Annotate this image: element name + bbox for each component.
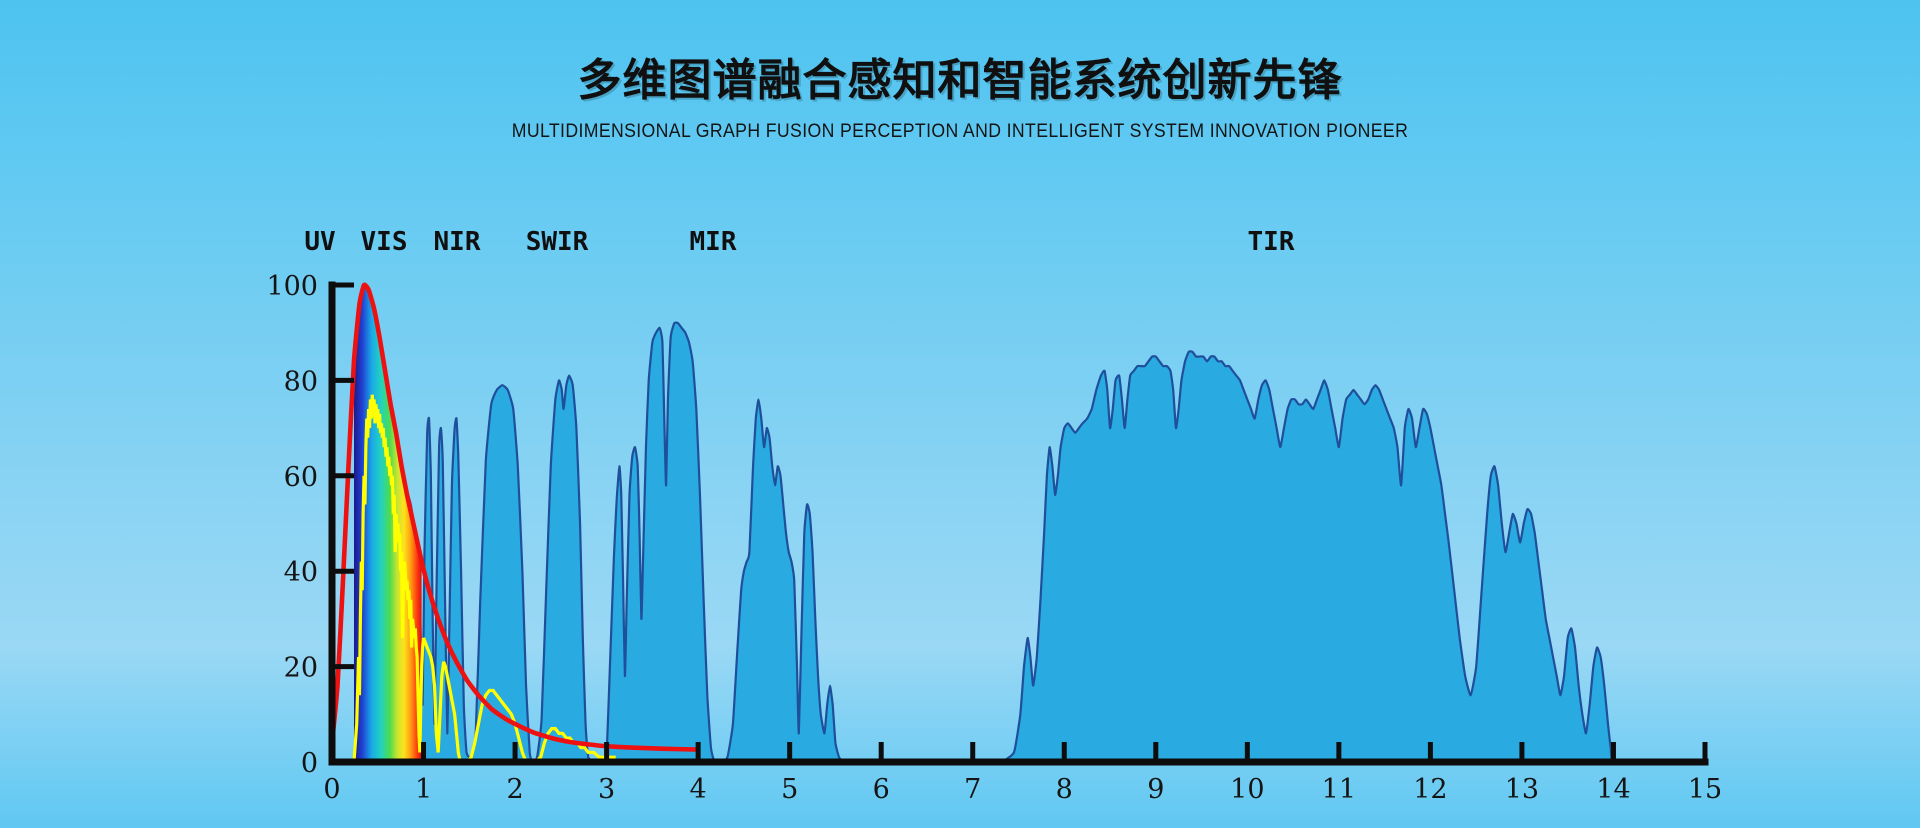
svg-text:20: 20	[284, 653, 318, 684]
svg-text:UV: UV	[304, 227, 335, 257]
svg-text:8: 8	[1056, 774, 1073, 805]
svg-text:60: 60	[284, 462, 318, 493]
svg-text:11: 11	[1322, 774, 1356, 805]
svg-text:6: 6	[873, 774, 890, 805]
svg-text:2: 2	[506, 774, 523, 805]
svg-text:7: 7	[964, 774, 981, 805]
svg-text:TIR: TIR	[1248, 227, 1295, 257]
svg-text:40: 40	[284, 557, 318, 588]
svg-text:80: 80	[284, 366, 318, 397]
svg-text:0: 0	[301, 748, 318, 779]
spectrum-chart: 0123456789101112131415 020406080100 UVVI…	[0, 0, 1920, 828]
svg-text:NIR: NIR	[434, 227, 481, 257]
x-axis-tick-labels: 0123456789101112131415	[323, 774, 1722, 805]
svg-text:MIR: MIR	[690, 227, 737, 257]
svg-text:SWIR: SWIR	[526, 227, 589, 257]
svg-text:13: 13	[1505, 774, 1539, 805]
svg-text:5: 5	[781, 774, 798, 805]
transmission-area	[332, 323, 1705, 763]
svg-text:9: 9	[1147, 774, 1164, 805]
svg-text:VIS: VIS	[361, 227, 408, 257]
svg-text:3: 3	[598, 774, 615, 805]
svg-text:10: 10	[1230, 774, 1264, 805]
spectrum-banner: 多维图谱融合感知和智能系统创新先锋 MULTIDIMENSIONAL GRAPH…	[0, 0, 1920, 828]
svg-text:15: 15	[1688, 774, 1722, 805]
svg-text:100: 100	[266, 271, 318, 302]
svg-text:12: 12	[1413, 774, 1447, 805]
svg-text:14: 14	[1596, 774, 1630, 805]
svg-text:4: 4	[690, 774, 707, 805]
svg-text:1: 1	[415, 774, 432, 805]
svg-text:0: 0	[323, 774, 340, 805]
y-axis-tick-labels: 020406080100	[266, 271, 318, 779]
spectral-band-labels: UVVISNIRSWIRMIRTIR	[304, 227, 1294, 257]
